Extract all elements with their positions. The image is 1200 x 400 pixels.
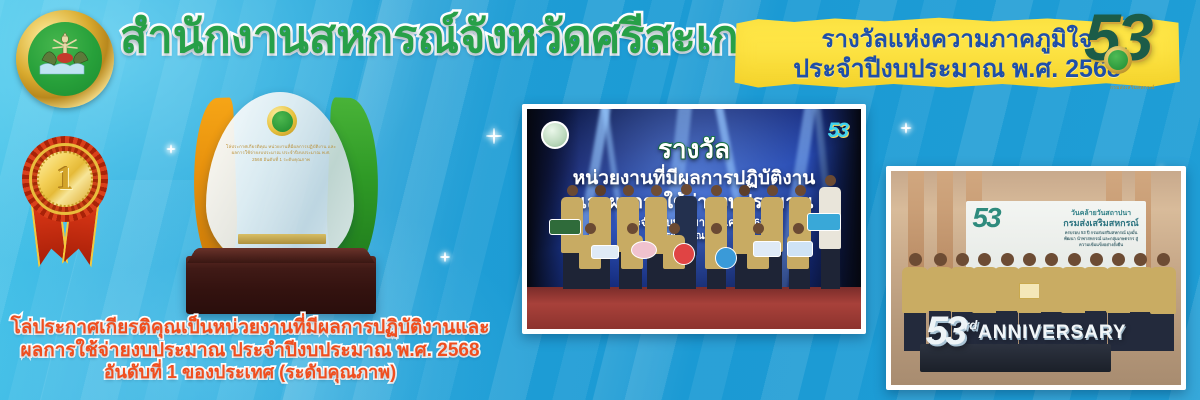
trophy-base bbox=[186, 256, 376, 314]
first-place-rosette: 1 bbox=[16, 132, 116, 272]
deity-glyph-icon bbox=[39, 30, 91, 76]
anniversary-53-logo: 53 กรมส่งเสริมสหกรณ์ bbox=[1082, 2, 1194, 98]
stage-floor bbox=[527, 287, 861, 329]
trophy-emblem-icon bbox=[267, 106, 297, 136]
anniversary-word: ANNIVERSARY bbox=[978, 322, 1127, 344]
award-caption: โล่ประกาศเกียรติคุณเป็นหน่วยงานที่มีผลกา… bbox=[0, 316, 500, 384]
backdrop-line2: กรมส่งเสริมสหกรณ์ bbox=[1060, 218, 1142, 229]
anniversary-subtext: กรมส่งเสริมสหกรณ์ bbox=[1110, 84, 1155, 92]
placard-cpd bbox=[549, 219, 581, 235]
placard-thumbsup bbox=[715, 247, 737, 269]
backdrop-line1: วันคล้ายวันสถาปนา bbox=[1060, 210, 1142, 219]
placard bbox=[631, 241, 657, 259]
sparkle-icon bbox=[166, 144, 175, 153]
award-recipients-group bbox=[543, 171, 845, 289]
placard-heart bbox=[673, 243, 695, 265]
sparkle-icon bbox=[900, 122, 911, 133]
sparkle-icon bbox=[486, 128, 502, 144]
ceremony-stage-photo: 53 รางวัล หน่วยงานที่มีผลการปฏิบัติงาน แ… bbox=[522, 104, 866, 334]
award-banner-graphic: กรมส่งเสริมสหกรณ์ สำนักงานสหกรณ์จังหวัดศ… bbox=[0, 0, 1200, 400]
backdrop-text: วันคล้ายวันสถาปนา กรมส่งเสริมสหกรณ์ ครบร… bbox=[1060, 210, 1142, 249]
cooperative-department-emblem-icon: กรมส่งเสริมสหกรณ์ bbox=[16, 10, 114, 108]
sparkle-icon bbox=[440, 252, 450, 262]
gold-medal-icon: 1 bbox=[29, 143, 101, 215]
page-title: สำนักงานสหกรณ์จังหวัดศรีสะเกษ bbox=[120, 14, 768, 59]
anniversary-group-photo: 53 วันคล้ายวันสถาปนา กรมส่งเสริมสหกรณ์ ค… bbox=[886, 166, 1186, 390]
crystal-trophy-plaque: โล่ประกาศเกียรติคุณ หน่วยงานที่มีผลการปฏ… bbox=[178, 92, 383, 314]
trophy-engraved-text: โล่ประกาศเกียรติคุณ หน่วยงานที่มีผลการปฏ… bbox=[226, 144, 336, 163]
award-caption-line1: โล่ประกาศเกียรติคุณเป็นหน่วยงานที่มีผลกา… bbox=[0, 316, 500, 339]
photo-inner: 53 วันคล้ายวันสถาปนา กรมส่งเสริมสหกรณ์ ค… bbox=[891, 171, 1181, 385]
emblem-disc: กรมส่งเสริมสหกรณ์ bbox=[28, 22, 102, 96]
hall-scene: 53 วันคล้ายวันสถาปนา กรมส่งเสริมสหกรณ์ ค… bbox=[891, 171, 1181, 385]
placard bbox=[787, 241, 813, 257]
placard bbox=[591, 245, 619, 259]
anniversary-seal-icon bbox=[1104, 46, 1132, 74]
award-caption-line2: ผลการใช้จ่ายงบประมาณ ประจำปีงบประมาณ พ.ศ… bbox=[0, 339, 500, 362]
backdrop-line3: ครบรอบ 53 ปี กรมส่งเสริมสหกรณ์ มุ่งมั่นพ… bbox=[1060, 230, 1142, 249]
backdrop-53-number: 53 bbox=[972, 204, 999, 232]
certificate-icon bbox=[1019, 283, 1041, 299]
rank-number: 1 bbox=[57, 162, 74, 196]
placard bbox=[753, 241, 781, 257]
anniversary-3d-number: 53rd bbox=[926, 313, 978, 349]
medal-inner: 1 bbox=[37, 151, 93, 207]
placard-sisaket bbox=[807, 213, 841, 231]
award-caption-line3: อันดับที่ 1 ของประเทศ (ระดับคุณภาพ) bbox=[0, 362, 500, 384]
trophy-nameplate bbox=[238, 234, 326, 244]
photo-inner: 53 รางวัล หน่วยงานที่มีผลการปฏิบัติงาน แ… bbox=[527, 109, 861, 329]
stage-backdrop: 53 รางวัล หน่วยงานที่มีผลการปฏิบัติงาน แ… bbox=[527, 109, 861, 329]
